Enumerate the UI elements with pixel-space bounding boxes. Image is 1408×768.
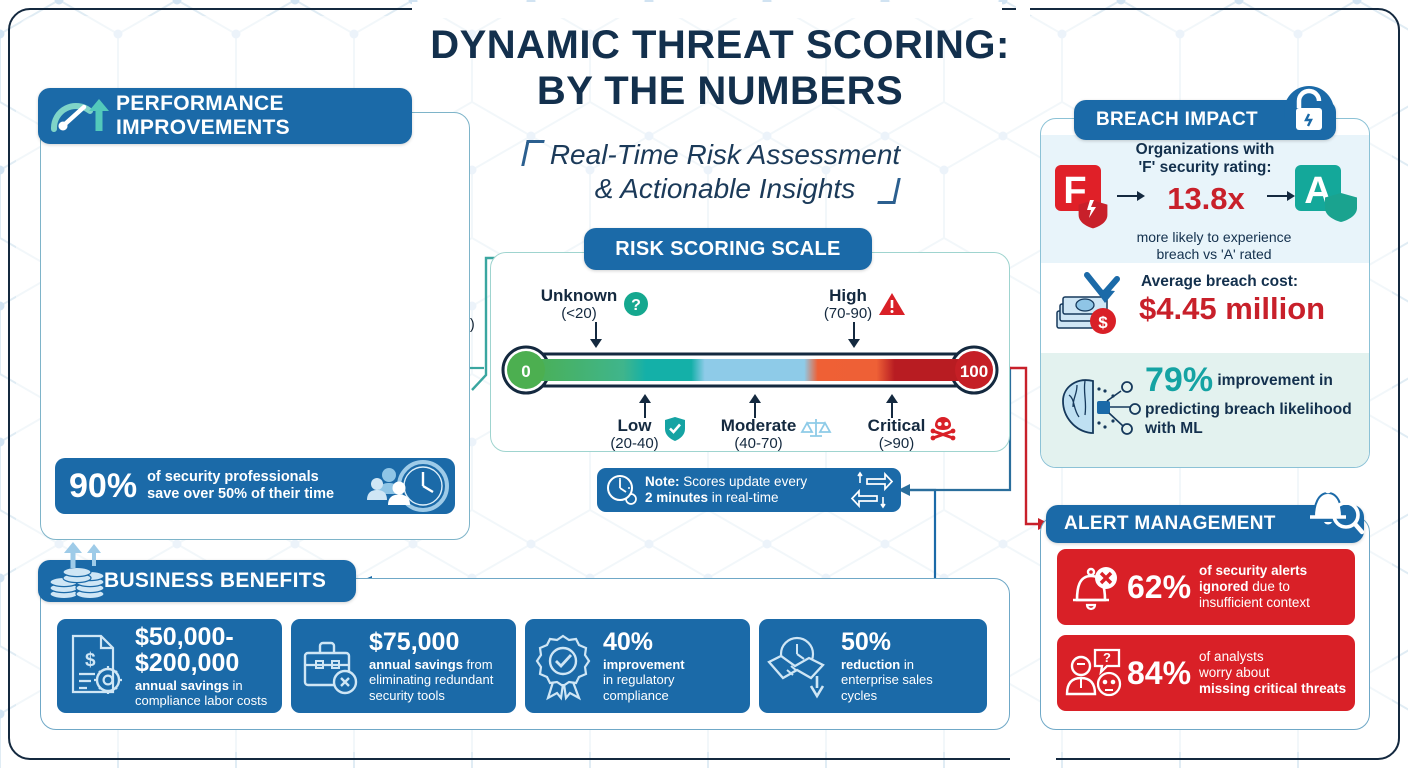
shield-check-icon	[664, 416, 686, 442]
unlocked-padlock-icon	[1280, 82, 1338, 140]
alert-header-label: ALERT MANAGEMENT	[1064, 512, 1276, 536]
risk-label-low-range: (20-40)	[610, 435, 658, 452]
bell-search-icon	[1298, 483, 1364, 541]
biz-item-1-desc-bold: annual savings	[369, 657, 463, 672]
breach-s1-desc-2: breach vs 'A' rated	[1099, 246, 1329, 263]
alert-item-1-line-3: missing critical threats	[1199, 681, 1346, 696]
rosette-check-icon	[533, 632, 595, 700]
alert-item-0-line-2-rest: due to	[1249, 579, 1290, 594]
alert-item-1-pct: 84%	[1127, 655, 1191, 692]
title-line-1: DYNAMIC THREAT SCORING:	[340, 22, 1100, 68]
biz-item-2-desc-3: compliance	[603, 688, 685, 704]
biz-item-1-desc-2: eliminating redundant	[369, 672, 493, 688]
svg-text:?: ?	[1103, 650, 1111, 665]
note-line-2-rest: in real-time	[708, 490, 779, 505]
subtitle-line-1: Real-Time Risk Assessment	[460, 138, 990, 172]
biz-item-0-amount-1: $50,000-	[135, 624, 267, 650]
breach-ml-desc-2: predicting breach likelihood	[1145, 400, 1357, 419]
page-title: DYNAMIC THREAT SCORING: BY THE NUMBERS	[340, 22, 1100, 114]
risk-label-low-name: Low	[610, 416, 658, 435]
alert-item-1-line-2: worry about	[1199, 665, 1346, 681]
risk-label-high-name: High	[824, 286, 872, 305]
biz-item-2-desc-2: in regulatory	[603, 672, 685, 688]
bell-x-icon	[1063, 558, 1125, 616]
svg-text:$: $	[85, 650, 96, 671]
team-clock-icon	[365, 458, 451, 514]
biz-item-3-desc-2: enterprise sales	[841, 672, 933, 688]
bidirectional-arrows-icon	[851, 471, 893, 509]
biz-item-1-desc-rest: from	[463, 657, 493, 672]
biz-item-2-amount: 40%	[603, 629, 685, 655]
coins-up-arrow-icon	[46, 540, 112, 602]
business-benefits-header: BUSINESS BENEFITS	[38, 560, 356, 602]
perf-banner-line-2: save over 50% of their time	[147, 486, 334, 503]
risk-label-moderate-range: (40-70)	[721, 435, 797, 452]
breach-section-f-rating: Organizations with 'F' security rating: …	[1041, 135, 1369, 263]
breach-s1-title-1: Organizations with	[1041, 141, 1369, 159]
risk-label-unknown-name: Unknown	[541, 286, 618, 305]
breach-ml-pct: 79%	[1145, 361, 1213, 399]
alert-management-header: ALERT MANAGEMENT	[1046, 505, 1364, 543]
risk-label-critical: Critical (>90)	[842, 416, 982, 452]
f-rating-broken-shield-icon: F	[1053, 163, 1121, 231]
performance-improvements-header: PERFORMANCE IMPROVEMENTS	[38, 88, 412, 144]
biz-item-0-desc-bold: annual savings	[135, 678, 229, 693]
biz-header-label: BUSINESS BENEFITS	[104, 569, 326, 593]
biz-item-1: $75,000 annual savings from eliminating …	[291, 619, 516, 713]
biz-item-3-desc-bold: reduction	[841, 657, 900, 672]
alert-item-1-line-1: of analysts	[1199, 649, 1346, 665]
arrow-right-icon	[1117, 189, 1145, 203]
risk-label-unknown-range: (<20)	[541, 305, 618, 322]
frame-gap-bottom	[1010, 744, 1056, 766]
breach-ml-desc-3: with ML	[1145, 419, 1357, 438]
a-rating-shield-icon: A	[1293, 163, 1363, 231]
perf-header-line-1: PERFORMANCE	[116, 92, 290, 116]
briefcase-x-icon	[299, 635, 361, 697]
alert-item-0-line-2-bold: ignored	[1199, 579, 1249, 594]
biz-item-0-desc-2: compliance labor costs	[135, 693, 267, 709]
risk-label-moderate-name: Moderate	[721, 416, 797, 435]
page-subtitle: Real-Time Risk Assessment & Actionable I…	[460, 138, 990, 206]
alert-item-0-line-3: insufficient context	[1199, 595, 1310, 611]
svg-text:?: ?	[631, 297, 641, 314]
skull-crossbones-icon	[930, 416, 956, 440]
risk-scoring-bar[interactable]: 0 100	[500, 346, 1000, 394]
biz-item-3-amount: 50%	[841, 629, 933, 655]
risk-header-label: RISK SCORING SCALE	[615, 237, 840, 261]
alert-item-0: 62% of security alerts ignored due to in…	[1057, 549, 1355, 625]
analyst-question-skull-icon: ?	[1061, 644, 1127, 702]
biz-item-2-desc-bold: improvement	[603, 657, 685, 672]
breach-multiplier: 13.8x	[1141, 181, 1271, 217]
perf-banner-pct: 90%	[69, 469, 137, 503]
risk-label-low: Low (20-40)	[592, 416, 704, 452]
handshake-down-arrow-icon	[767, 632, 833, 700]
biz-item-1-desc-3: security tools	[369, 688, 493, 704]
alert-management-panel: 62% of security alerts ignored due to in…	[1040, 516, 1370, 730]
risk-label-unknown: Unknown (<20) ?	[520, 286, 670, 322]
breach-cost-value: $4.45 million	[1139, 291, 1325, 327]
alert-item-0-line-1: of security alerts	[1199, 563, 1307, 578]
breach-section-ml: 79% improvement in predicting breach lik…	[1041, 353, 1369, 467]
breach-cost-label: Average breach cost:	[1141, 273, 1298, 291]
breach-ml-desc-1: improvement in	[1217, 372, 1332, 389]
risk-label-high-range: (70-90)	[824, 305, 872, 322]
performance-highlight-banner: 90% of security professionals save over …	[55, 458, 455, 514]
note-line-1: Scores update every	[680, 474, 808, 489]
alert-item-0-pct: 62%	[1127, 569, 1191, 606]
biz-item-3-desc-rest: in	[900, 657, 914, 672]
perf-header-line-2: IMPROVEMENTS	[116, 116, 290, 140]
alert-item-1: ? 84% of analysts worry about missing cr…	[1057, 635, 1355, 711]
clock-sync-icon	[605, 473, 639, 507]
subtitle-line-2: & Actionable Insights	[460, 172, 990, 206]
risk-label-moderate: Moderate (40-70)	[700, 416, 852, 452]
frame-gap-top	[412, 2, 1002, 18]
biz-item-0: $ $50,000- $200,000 annual savings in co…	[57, 619, 282, 713]
breach-header-label: BREACH IMPACT	[1096, 108, 1258, 132]
risk-label-high: High (70-90)	[800, 286, 930, 322]
question-circle-icon: ?	[623, 291, 649, 317]
title-line-2: BY THE NUMBERS	[340, 68, 1100, 114]
warning-triangle-icon	[878, 291, 906, 317]
note-prefix: Note:	[645, 474, 680, 489]
breach-s1-desc-1: more likely to experience	[1099, 229, 1329, 246]
risk-scoring-scale-header: RISK SCORING SCALE	[584, 228, 872, 270]
note-line-2-bold: 2 minutes	[645, 490, 708, 505]
money-down-arrow-icon: $	[1055, 273, 1137, 339]
perf-banner-line-1: of security professionals	[147, 469, 334, 486]
biz-item-2: 40% improvement in regulatory compliance	[525, 619, 750, 713]
breach-impact-panel: Organizations with 'F' security rating: …	[1040, 118, 1370, 468]
document-gear-dollar-icon: $	[65, 630, 127, 702]
scales-icon	[801, 416, 831, 440]
arrow-right-icon	[1267, 189, 1295, 203]
risk-label-critical-range: (>90)	[868, 435, 926, 452]
biz-item-1-amount: $75,000	[369, 629, 493, 655]
biz-item-3: 50% reduction in enterprise sales cycles	[759, 619, 987, 713]
risk-label-critical-name: Critical	[868, 416, 926, 435]
svg-text:$: $	[1098, 313, 1108, 332]
biz-item-0-desc-rest: in	[229, 678, 243, 693]
breach-impact-header: BREACH IMPACT	[1074, 100, 1336, 140]
brain-network-icon	[1055, 371, 1143, 443]
biz-item-0-amount-2: $200,000	[135, 650, 267, 676]
risk-bar-min-label: 0	[521, 362, 530, 381]
biz-item-3-desc-3: cycles	[841, 688, 933, 704]
breach-section-cost: $ Average breach cost: $4.45 million	[1041, 263, 1369, 353]
risk-bar-max-label: 100	[960, 362, 988, 381]
speedometer-up-arrow-icon	[50, 95, 112, 137]
risk-scale-note: Note: Scores update every 2 minutes in r…	[597, 468, 901, 512]
